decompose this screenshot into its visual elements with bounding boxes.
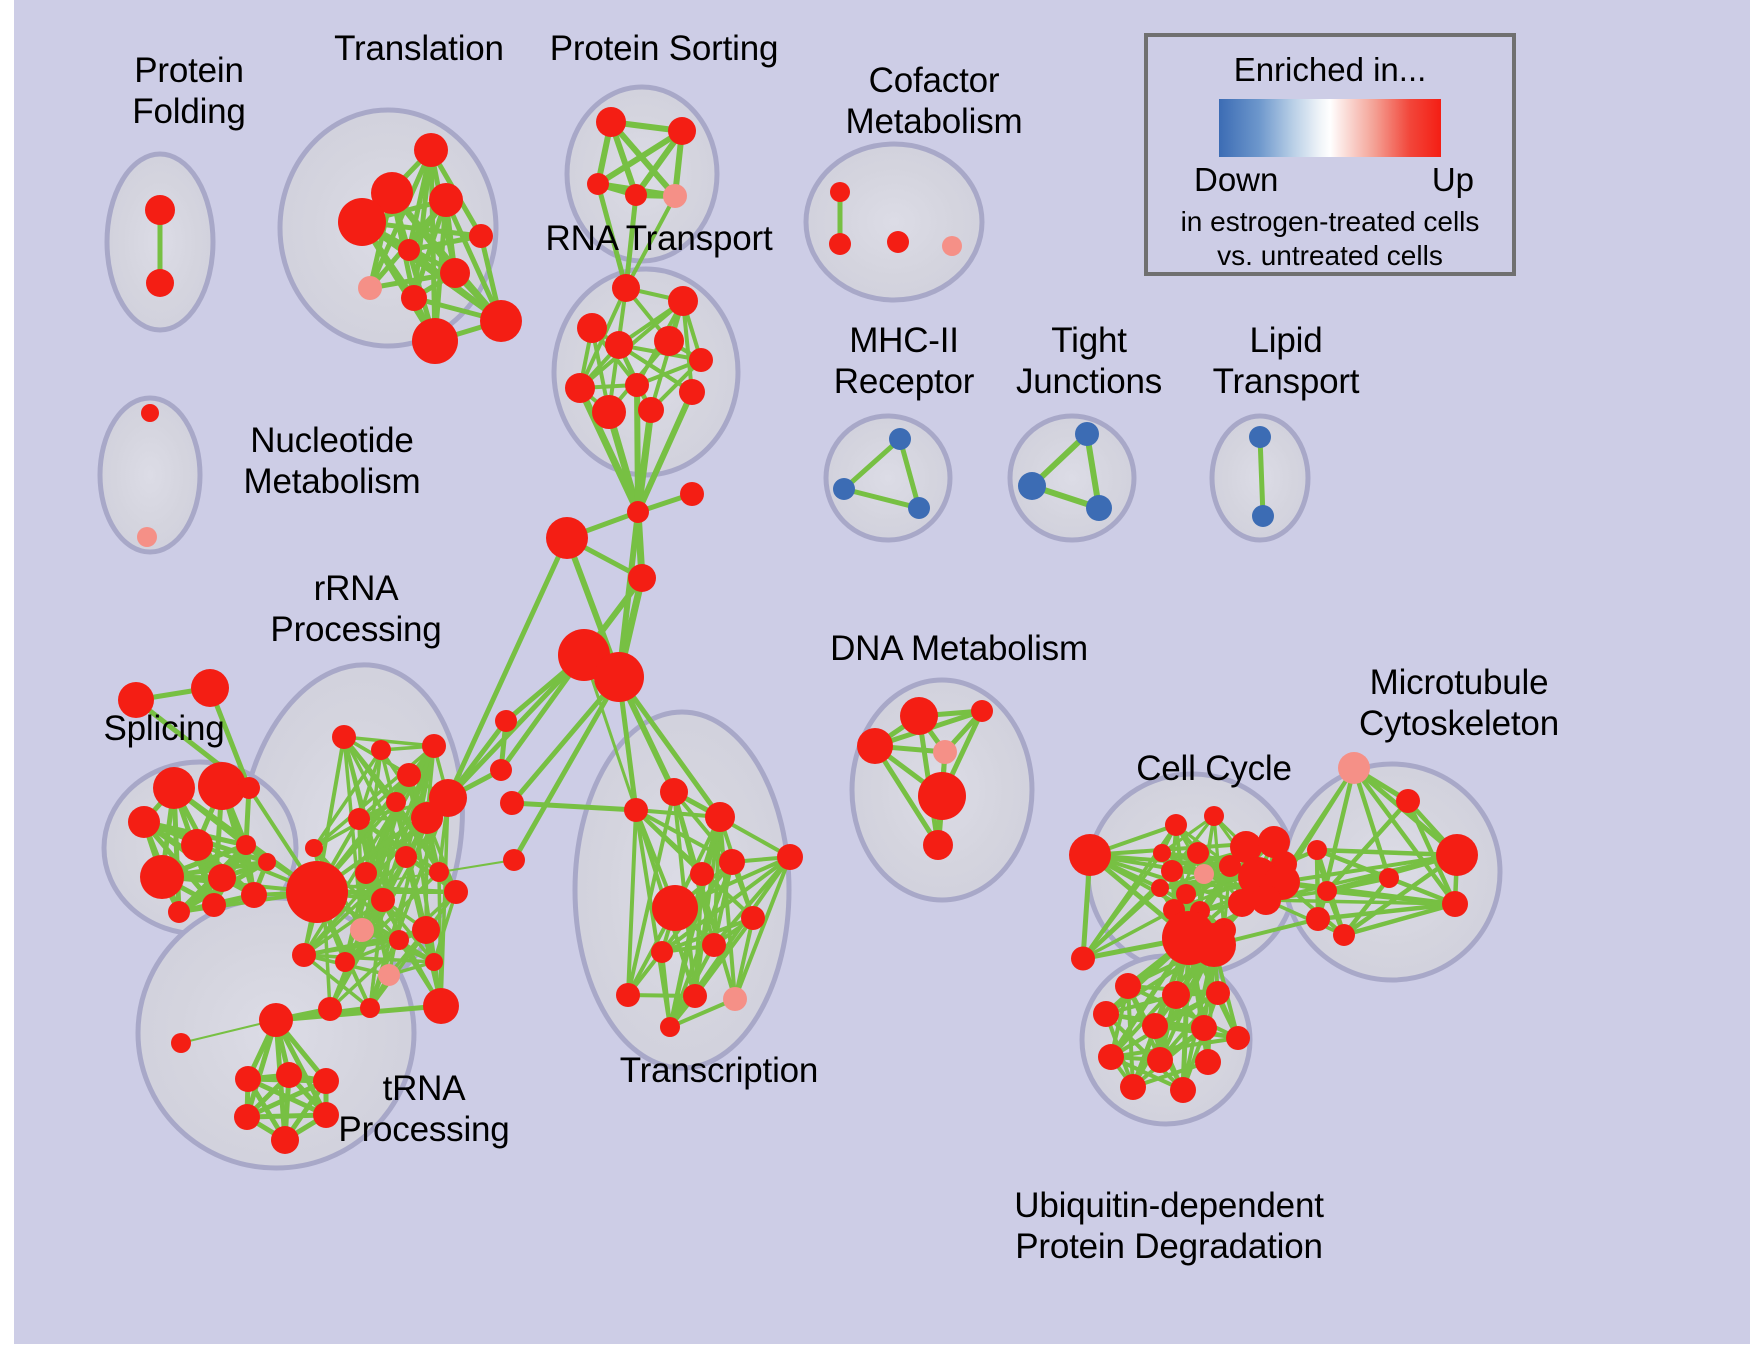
network-node[interactable] xyxy=(1317,881,1337,901)
label-line: Cytoskeleton xyxy=(1314,703,1604,744)
legend-panel: Enriched in... Down Up in estrogen-treat… xyxy=(1144,33,1516,276)
label-line: RNA Transport xyxy=(509,218,809,259)
label-line: Transcription xyxy=(579,1050,859,1091)
cluster-label-mhc-ii-receptor: MHC-IIReceptor xyxy=(794,320,1014,402)
network-node[interactable] xyxy=(258,853,276,871)
network-node[interactable] xyxy=(490,759,512,781)
network-node[interactable] xyxy=(318,997,342,1021)
label-line: Processing xyxy=(256,609,456,650)
network-node[interactable] xyxy=(292,943,316,967)
network-node[interactable] xyxy=(679,379,705,405)
network-node[interactable] xyxy=(1120,1074,1146,1100)
network-node[interactable] xyxy=(234,1104,260,1130)
network-node[interactable] xyxy=(1142,1013,1168,1039)
network-node[interactable] xyxy=(271,1126,299,1154)
network-node[interactable] xyxy=(638,397,664,423)
network-node[interactable] xyxy=(1192,923,1236,967)
network-node[interactable] xyxy=(594,652,644,702)
network-node[interactable] xyxy=(202,893,226,917)
network-node[interactable] xyxy=(971,700,993,722)
network-node[interactable] xyxy=(1170,1077,1196,1103)
cluster-label-ubiquitin-protein-degradation: Ubiquitin-dependentProtein Degradation xyxy=(979,1185,1359,1267)
label-line: Protein Degradation xyxy=(979,1226,1359,1267)
label-line: Ubiquitin-dependent xyxy=(979,1185,1359,1226)
network-plot-area: ProteinFoldingTranslationProtein Sorting… xyxy=(14,0,1750,1344)
label-line: Lipid xyxy=(1186,320,1386,361)
network-node[interactable] xyxy=(397,763,421,787)
network-node[interactable] xyxy=(1086,495,1112,521)
legend-title: Enriched in... xyxy=(1148,51,1512,89)
network-node[interactable] xyxy=(137,527,157,547)
network-node[interactable] xyxy=(440,258,470,288)
network-node[interactable] xyxy=(128,806,160,838)
legend-down-label: Down xyxy=(1194,161,1278,199)
network-node[interactable] xyxy=(241,882,267,908)
network-node[interactable] xyxy=(933,740,957,764)
network-node[interactable] xyxy=(276,1062,302,1088)
network-node[interactable] xyxy=(305,839,323,857)
edge xyxy=(1260,437,1263,516)
network-node[interactable] xyxy=(1165,814,1187,836)
network-node[interactable] xyxy=(887,231,909,253)
label-line: Protein xyxy=(94,50,284,91)
label-line: Receptor xyxy=(794,361,1014,402)
network-node[interactable] xyxy=(680,482,704,506)
label-line: Junctions xyxy=(989,361,1189,402)
network-node[interactable] xyxy=(1204,806,1224,826)
network-node[interactable] xyxy=(371,740,391,760)
network-node[interactable] xyxy=(612,274,640,302)
network-node[interactable] xyxy=(654,326,684,356)
network-node[interactable] xyxy=(235,1066,261,1092)
cluster-label-transcription: Transcription xyxy=(579,1050,859,1091)
network-node[interactable] xyxy=(1338,752,1370,784)
network-node[interactable] xyxy=(350,918,374,942)
network-node[interactable] xyxy=(146,269,174,297)
cluster-label-cofactor-metabolism: CofactorMetabolism xyxy=(794,60,1074,142)
network-node[interactable] xyxy=(565,373,595,403)
cluster-label-rrna-processing: rRNAProcessing xyxy=(256,568,456,650)
network-node[interactable] xyxy=(668,286,698,316)
network-node[interactable] xyxy=(429,862,449,882)
legend-sublabel-line2: vs. untreated cells xyxy=(1148,239,1512,273)
network-node[interactable] xyxy=(1093,1001,1119,1027)
network-node[interactable] xyxy=(652,885,698,931)
network-node[interactable] xyxy=(338,198,386,246)
legend-sublabel: in estrogen-treated cells vs. untreated … xyxy=(1148,205,1512,273)
cluster-label-splicing: Splicing xyxy=(69,708,259,749)
network-node[interactable] xyxy=(719,849,745,875)
network-node[interactable] xyxy=(668,117,696,145)
network-node[interactable] xyxy=(171,1033,191,1053)
network-node[interactable] xyxy=(627,501,649,523)
network-node[interactable] xyxy=(355,862,377,884)
network-node[interactable] xyxy=(191,669,229,707)
label-line: Splicing xyxy=(69,708,259,749)
cluster-label-rna-transport: RNA Transport xyxy=(509,218,809,259)
network-node[interactable] xyxy=(386,792,406,812)
network-node[interactable] xyxy=(398,239,420,261)
network-node[interactable] xyxy=(423,988,459,1024)
network-node[interactable] xyxy=(1194,864,1214,884)
label-line: tRNA xyxy=(314,1068,534,1109)
label-line: Cell Cycle xyxy=(1114,748,1314,789)
network-node[interactable] xyxy=(1219,855,1241,877)
label-line: Processing xyxy=(314,1109,534,1150)
network-node[interactable] xyxy=(777,844,803,870)
cluster-label-protein-sorting: Protein Sorting xyxy=(504,28,824,69)
label-line: Microtubule xyxy=(1314,662,1604,703)
cluster-label-lipid-transport: LipidTransport xyxy=(1186,320,1386,402)
network-node[interactable] xyxy=(1379,868,1399,888)
network-node[interactable] xyxy=(401,285,427,311)
network-node[interactable] xyxy=(1069,834,1111,876)
cluster-blob-mhc-ii-receptor xyxy=(826,416,950,540)
network-node[interactable] xyxy=(900,697,938,735)
network-node[interactable] xyxy=(444,880,468,904)
legend-sublabel-line1: in estrogen-treated cells xyxy=(1148,205,1512,239)
network-node[interactable] xyxy=(596,107,626,137)
cluster-label-nucleotide-metabolism: NucleotideMetabolism xyxy=(202,420,462,502)
network-node[interactable] xyxy=(592,395,626,429)
figure-canvas: ProteinFoldingTranslationProtein Sorting… xyxy=(0,0,1750,1360)
network-node[interactable] xyxy=(689,348,713,372)
network-node[interactable] xyxy=(335,952,355,972)
network-node[interactable] xyxy=(181,829,213,861)
network-node[interactable] xyxy=(918,772,966,820)
network-node[interactable] xyxy=(616,983,640,1007)
label-line: Metabolism xyxy=(202,461,462,502)
network-node[interactable] xyxy=(1075,422,1099,446)
network-node[interactable] xyxy=(1396,789,1420,813)
network-node[interactable] xyxy=(480,300,522,342)
network-node[interactable] xyxy=(1115,973,1141,999)
network-node[interactable] xyxy=(1098,1044,1124,1070)
network-node[interactable] xyxy=(259,1003,293,1037)
network-node[interactable] xyxy=(395,846,417,868)
network-node[interactable] xyxy=(1226,1026,1250,1050)
network-node[interactable] xyxy=(1162,981,1190,1009)
network-node[interactable] xyxy=(500,791,524,815)
network-node[interactable] xyxy=(577,313,607,343)
network-node[interactable] xyxy=(286,861,348,923)
network-node[interactable] xyxy=(908,497,930,519)
network-node[interactable] xyxy=(660,1017,680,1037)
cluster-blob-cofactor-metabolism xyxy=(806,144,982,300)
network-node[interactable] xyxy=(1071,946,1095,970)
network-node[interactable] xyxy=(723,987,747,1011)
label-line: Metabolism xyxy=(794,101,1074,142)
label-line: Tight xyxy=(989,320,1189,361)
network-node[interactable] xyxy=(469,224,493,248)
network-node[interactable] xyxy=(690,862,714,886)
legend-color-bar xyxy=(1219,99,1441,157)
network-node[interactable] xyxy=(663,184,687,208)
cluster-label-trna-processing: tRNAProcessing xyxy=(314,1068,534,1150)
edge xyxy=(637,385,638,512)
network-node[interactable] xyxy=(1153,844,1171,862)
network-node[interactable] xyxy=(702,933,726,957)
network-node[interactable] xyxy=(153,767,195,809)
network-node[interactable] xyxy=(332,725,356,749)
label-line: MHC-II xyxy=(794,320,1014,361)
network-node[interactable] xyxy=(651,941,673,963)
label-line: rRNA xyxy=(256,568,456,609)
network-node[interactable] xyxy=(208,864,236,892)
network-node[interactable] xyxy=(942,236,962,256)
legend-up-label: Up xyxy=(1432,161,1474,199)
network-node[interactable] xyxy=(495,710,517,732)
cluster-label-dna-metabolism: DNA Metabolism xyxy=(819,628,1099,669)
network-node[interactable] xyxy=(1436,834,1478,876)
network-node[interactable] xyxy=(425,953,443,971)
network-node[interactable] xyxy=(683,984,707,1008)
label-line: Folding xyxy=(94,91,284,132)
cluster-label-protein-folding: ProteinFolding xyxy=(94,50,284,132)
label-line: DNA Metabolism xyxy=(819,628,1099,669)
network-node[interactable] xyxy=(145,195,175,225)
network-node[interactable] xyxy=(1442,891,1468,917)
label-line: Cofactor xyxy=(794,60,1074,101)
network-node[interactable] xyxy=(587,173,609,195)
network-node[interactable] xyxy=(1228,889,1256,917)
network-node[interactable] xyxy=(414,133,448,167)
network-node[interactable] xyxy=(429,779,467,817)
network-node[interactable] xyxy=(1195,1049,1221,1075)
network-node[interactable] xyxy=(625,373,649,397)
network-node[interactable] xyxy=(605,331,633,359)
network-node[interactable] xyxy=(1151,879,1169,897)
network-node[interactable] xyxy=(546,517,588,559)
network-node[interactable] xyxy=(705,802,735,832)
network-node[interactable] xyxy=(503,849,525,871)
network-node[interactable] xyxy=(829,233,851,255)
network-node[interactable] xyxy=(1161,860,1183,882)
label-line: Transport xyxy=(1186,361,1386,402)
network-node[interactable] xyxy=(1018,472,1046,500)
network-node[interactable] xyxy=(1206,981,1230,1005)
network-node[interactable] xyxy=(1307,840,1327,860)
network-node[interactable] xyxy=(389,930,409,950)
network-node[interactable] xyxy=(140,855,184,899)
network-node[interactable] xyxy=(141,404,159,422)
network-node[interactable] xyxy=(1306,907,1330,931)
network-node[interactable] xyxy=(1249,426,1271,448)
network-node[interactable] xyxy=(741,906,765,930)
network-node[interactable] xyxy=(625,184,647,206)
network-node[interactable] xyxy=(378,964,400,986)
network-node[interactable] xyxy=(1187,842,1209,864)
network-node[interactable] xyxy=(830,182,850,202)
network-node[interactable] xyxy=(236,835,256,855)
network-node[interactable] xyxy=(348,808,370,830)
network-node[interactable] xyxy=(412,318,458,364)
network-node[interactable] xyxy=(660,778,688,806)
cluster-label-microtubule-cytoskeleton: MicrotubuleCytoskeleton xyxy=(1314,662,1604,744)
network-node[interactable] xyxy=(833,478,855,500)
label-line: Protein Sorting xyxy=(504,28,824,69)
network-node[interactable] xyxy=(1191,1015,1217,1041)
network-node[interactable] xyxy=(429,183,463,217)
cluster-label-cell-cycle: Cell Cycle xyxy=(1114,748,1314,789)
network-node[interactable] xyxy=(1333,924,1355,946)
label-line: Nucleotide xyxy=(202,420,462,461)
network-node[interactable] xyxy=(412,916,440,944)
network-node[interactable] xyxy=(358,276,382,300)
network-node[interactable] xyxy=(624,798,648,822)
network-node[interactable] xyxy=(857,728,893,764)
network-node[interactable] xyxy=(168,901,190,923)
cluster-label-tight-junctions: TightJunctions xyxy=(989,320,1189,402)
network-node[interactable] xyxy=(238,777,260,799)
network-node[interactable] xyxy=(371,888,395,912)
network-node[interactable] xyxy=(628,564,656,592)
network-node[interactable] xyxy=(422,734,446,758)
network-node[interactable] xyxy=(889,428,911,450)
network-node[interactable] xyxy=(1147,1047,1173,1073)
network-node[interactable] xyxy=(360,998,380,1018)
network-node[interactable] xyxy=(1252,505,1274,527)
network-node[interactable] xyxy=(923,830,953,860)
